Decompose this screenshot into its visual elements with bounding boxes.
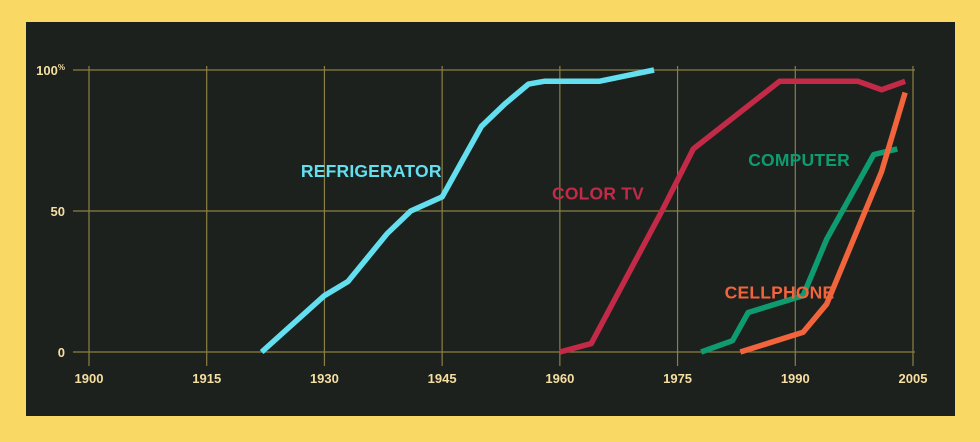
- y-axis-tick-label: 50: [51, 204, 65, 219]
- x-axis-ticks: 19001915193019451960197519902005: [75, 371, 928, 386]
- x-axis-tick-label: 1945: [428, 371, 457, 386]
- series-line-color-tv: [560, 81, 905, 352]
- series-labels: REFRIGERATORCOLOR TVCOMPUTERCELLPHONE: [301, 150, 850, 303]
- series-line-cellphone: [740, 93, 905, 352]
- chart-frame: 050100% 19001915193019451960197519902005…: [0, 0, 980, 442]
- x-axis-tick-label: 2005: [899, 371, 928, 386]
- y-axis-ticks: 050100%: [36, 63, 65, 360]
- series-label-refrigerator: REFRIGERATOR: [301, 161, 442, 181]
- y-axis-tick-label: 0: [58, 345, 65, 360]
- series-line-computer: [701, 149, 897, 352]
- line-chart: 050100% 19001915193019451960197519902005…: [0, 0, 980, 442]
- series-label-computer: COMPUTER: [748, 150, 850, 170]
- x-axis-tick-label: 1960: [545, 371, 574, 386]
- x-axis-tick-label: 1990: [781, 371, 810, 386]
- x-axis-tick-label: 1975: [663, 371, 692, 386]
- y-axis-tick-label: 100%: [36, 63, 65, 78]
- x-axis-tick-label: 1900: [75, 371, 104, 386]
- series-label-color-tv: COLOR TV: [552, 184, 644, 204]
- x-axis-tick-label: 1930: [310, 371, 339, 386]
- x-axis-tick-label: 1915: [192, 371, 221, 386]
- series-label-cellphone: CELLPHONE: [725, 282, 835, 302]
